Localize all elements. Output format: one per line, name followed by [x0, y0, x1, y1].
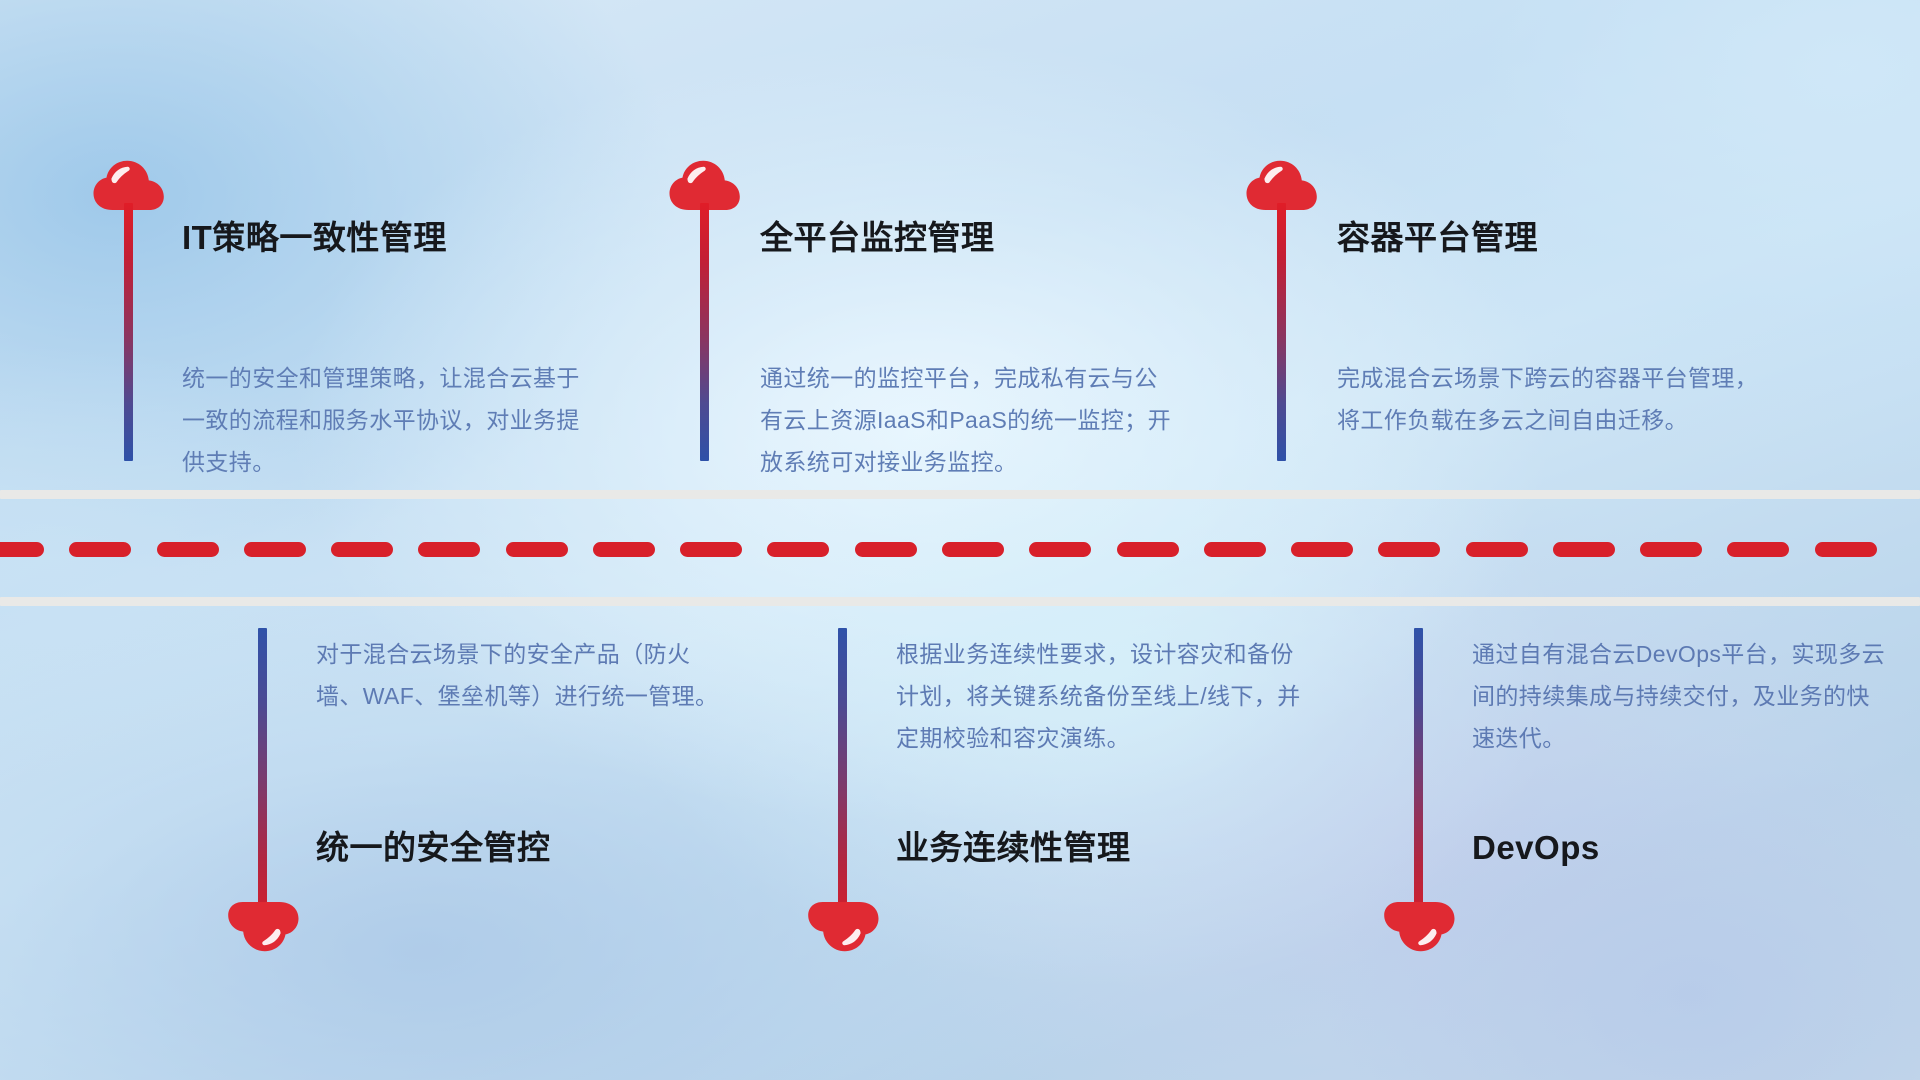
road-dash: [1029, 542, 1091, 557]
cloud-icon: [1382, 900, 1456, 952]
cloud-icon: [806, 900, 880, 952]
stem-top-2: [700, 203, 709, 461]
road-dash: [0, 542, 44, 557]
road-dash: [1204, 542, 1266, 557]
heading-bottom-2: 业务连续性管理: [896, 830, 1131, 866]
road-dash: [1553, 542, 1615, 557]
road-dash: [244, 542, 306, 557]
stem-top-1: [124, 203, 133, 461]
road-dash: [942, 542, 1004, 557]
road-dash: [506, 542, 568, 557]
body-bottom-2: 根据业务连续性要求，设计容灾和备份计划，将关键系统备份至线上/线下，并定期校验和…: [896, 633, 1316, 759]
road-dash: [855, 542, 917, 557]
heading-bottom-3: DevOps: [1472, 830, 1600, 866]
road-rail-bottom: [0, 597, 1920, 606]
road-dash: [1727, 542, 1789, 557]
road-dash: [1291, 542, 1353, 557]
heading-top-1: IT策略一致性管理: [182, 220, 447, 256]
road-dash: [767, 542, 829, 557]
road-dash: [1378, 542, 1440, 557]
road-dash: [1117, 542, 1179, 557]
body-bottom-1: 对于混合云场景下的安全产品（防火墙、WAF、堡垒机等）进行统一管理。: [316, 633, 736, 717]
body-bottom-3: 通过自有混合云DevOps平台，实现多云间的持续集成与持续交付，及业务的快速迭代…: [1472, 633, 1892, 759]
heading-bottom-1: 统一的安全管控: [316, 830, 551, 866]
road-dash: [1815, 542, 1877, 557]
road-dash: [157, 542, 219, 557]
stem-top-3: [1277, 203, 1286, 461]
road-dash: [331, 542, 393, 557]
body-top-1: 统一的安全和管理策略，让混合云基于一致的流程和服务水平协议，对业务提供支持。: [182, 357, 602, 483]
road-dash: [1466, 542, 1528, 557]
road-dash: [418, 542, 480, 557]
road-dash: [680, 542, 742, 557]
stem-bottom-3: [1414, 628, 1423, 918]
infographic-canvas: IT策略一致性管理 统一的安全和管理策略，让混合云基于一致的流程和服务水平协议，…: [0, 0, 1920, 1080]
stem-bottom-2: [838, 628, 847, 918]
cloud-icon: [226, 900, 300, 952]
road-rail-top: [0, 490, 1920, 499]
stem-bottom-1: [258, 628, 267, 918]
road-dash: [69, 542, 131, 557]
road-dash: [593, 542, 655, 557]
road-dash: [1640, 542, 1702, 557]
body-top-3: 完成混合云场景下跨云的容器平台管理，将工作负载在多云之间自由迁移。: [1337, 357, 1777, 441]
heading-top-2: 全平台监控管理: [760, 220, 995, 256]
heading-top-3: 容器平台管理: [1337, 220, 1538, 256]
road-dash-track: [0, 542, 1920, 557]
body-top-2: 通过统一的监控平台，完成私有云与公有云上资源IaaS和PaaS的统一监控；开放系…: [760, 357, 1180, 483]
